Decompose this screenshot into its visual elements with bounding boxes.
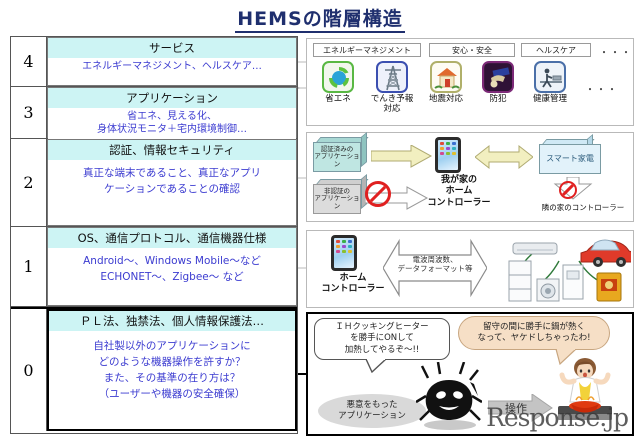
- layer-heading: サービス: [48, 38, 296, 58]
- service-icon-label: 地震対応: [423, 95, 469, 105]
- table-row: 1 OS、通信プロトコル、通信機器仕様 Android～、Windows Mob…: [11, 227, 297, 307]
- unauthenticated-app-cube: 非認証のアプリケーション: [313, 179, 369, 215]
- service-icon-label: 省エネ: [315, 95, 361, 105]
- layer-table: 4 サービス エネルギーマネジメント、ヘルスケア… 3 アプリケーション 省エネ…: [10, 36, 298, 434]
- law-panel: ＩＨクッキングヒーターを勝手にONして加熱してやるぞ～!! 留守の間に勝手に鍋が…: [306, 312, 634, 436]
- no-entry-icon: [559, 181, 577, 199]
- os-panel: ホームコントローラー 電波周波数、データフォーマット等: [306, 230, 634, 308]
- layer-heading: ＰＬ法、独禁法、個人情報保護法…: [49, 311, 295, 331]
- watermark: Response.jp: [486, 403, 628, 432]
- service-icon-item: でんき予報対応: [369, 61, 415, 115]
- victim-speech-bubble: 留守の間に勝手に鍋が熱くなって、ヤケドしちゃったわ!: [458, 316, 610, 350]
- layer-content: アプリケーション 省エネ、見える化、身体状況モニタ＋宅内環境制御…: [47, 87, 297, 138]
- home-controller-label: 我が家のホームコントローラー: [415, 175, 503, 209]
- table-row: 3 アプリケーション 省エネ、見える化、身体状況モニタ＋宅内環境制御…: [11, 87, 297, 139]
- smart-appliance-label: スマート家電: [539, 144, 601, 174]
- power-tower-icon: [376, 61, 408, 93]
- layer-number: 2: [11, 139, 47, 226]
- page-title: HEMSの階層構造: [0, 4, 640, 31]
- unauthenticated-app-label: 非認証のアプリケーション: [313, 184, 361, 214]
- page-title-text: HEMSの階層構造: [235, 8, 404, 33]
- layer-number: 1: [11, 227, 47, 306]
- service-icon-item: 健康管理: [527, 61, 573, 105]
- layer-number: 4: [11, 37, 47, 86]
- diagram-page: HEMSの階層構造 4 サービス エネルギーマネジメント、ヘルスケア… 3: [0, 0, 640, 442]
- layer-content: サービス エネルギーマネジメント、ヘルスケア…: [47, 37, 297, 86]
- layer-content: OS、通信プロトコル、通信機器仕様 Android～、Windows Mobil…: [47, 227, 297, 306]
- allow-arrow-icon: [371, 145, 433, 169]
- service-icon-item: 地震対応: [423, 61, 469, 105]
- security-panel: 認証済みのアプリケーション 非認証のアプリケーション: [306, 132, 634, 222]
- service-tag-safety: 安心・安全: [429, 43, 515, 57]
- service-icon-item: 省エネ: [315, 61, 361, 105]
- authenticated-app-cube: 認証済みのアプリケーション: [313, 137, 369, 173]
- service-tag-row: エネルギーマネジメント 安心・安全 ヘルスケア ・・・: [313, 43, 629, 58]
- service-tag-ellipsis: ・・・: [599, 44, 632, 59]
- layer-body: エネルギーマネジメント、ヘルスケア…: [48, 58, 296, 85]
- layer-content: 認証、情報セキュリティ 真正な端末であること、真正なアプリケーションであることの…: [47, 139, 297, 226]
- table-row: 2 認証、情報セキュリティ 真正な端末であること、真正なアプリケーションであるこ…: [11, 139, 297, 227]
- layer-body: Android～、Windows Mobile～などECHONET～、Zigbe…: [48, 248, 296, 305]
- shaking-house-icon: [430, 61, 462, 93]
- malicious-app-label-ellipse: 悪意をもったアプリケーション: [318, 394, 426, 428]
- smart-appliance-cube: スマート家電: [539, 139, 609, 175]
- service-panel: エネルギーマネジメント 安心・安全 ヘルスケア ・・・ 省エネ: [306, 38, 634, 126]
- security-camera-icon: [482, 61, 514, 93]
- malicious-speech-bubble: ＩＨクッキングヒーターを勝手にONして加熱してやるぞ～!!: [314, 318, 450, 360]
- health-exercise-icon: [534, 61, 566, 93]
- malicious-app-label: 悪意をもったアプリケーション: [338, 400, 406, 421]
- layer-body: 自社製以外のアプリケーションにどのような機器操作を許すか？また、その基準の在り方…: [49, 331, 295, 429]
- service-icon-ellipsis: ・・・: [585, 81, 618, 96]
- no-entry-icon: [365, 181, 391, 207]
- speech-tail-icon: [364, 359, 390, 373]
- service-icon-label: 健康管理: [527, 95, 573, 105]
- layer-number: 3: [11, 87, 47, 138]
- layer-body: 真正な端末であること、真正なアプリケーションであることの確認: [48, 160, 296, 225]
- neighbor-controller-label: 隣の家のコントローラー: [533, 203, 633, 212]
- recycle-globe-icon: [322, 61, 354, 93]
- service-icon-row: 省エネ でんき予報対応: [315, 61, 631, 121]
- protocol-arrow-text: 電波周波数、データフォーマット等: [391, 255, 479, 273]
- authenticated-app-label: 認証済みのアプリケーション: [313, 142, 361, 172]
- service-tag-energy: エネルギーマネジメント: [313, 43, 421, 57]
- service-icon-label: でんき予報対応: [369, 95, 415, 115]
- malware-bug-icon: [416, 362, 482, 430]
- service-icon-item: 防犯: [475, 61, 521, 105]
- bidirectional-arrow-icon: [475, 145, 533, 169]
- layer-heading: OS、通信プロトコル、通信機器仕様: [48, 228, 296, 248]
- service-icon-label: 防犯: [475, 95, 521, 105]
- layer-heading: 認証、情報セキュリティ: [48, 140, 296, 160]
- layer-number: 0: [11, 309, 47, 431]
- layer-content: ＰＬ法、独禁法、個人情報保護法… 自社製以外のアプリケーションにどのような機器操…: [47, 309, 297, 431]
- home-controller-tablet-icon: [331, 235, 357, 271]
- table-row: 0 ＰＬ法、独禁法、個人情報保護法… 自社製以外のアプリケーションにどのような機…: [11, 307, 297, 431]
- layer-body: 省エネ、見える化、身体状況モニタ＋宅内環境制御…: [48, 108, 296, 139]
- table-row: 4 サービス エネルギーマネジメント、ヘルスケア…: [11, 37, 297, 87]
- service-tag-healthcare: ヘルスケア: [521, 43, 591, 57]
- appliance-cluster-icon: [503, 235, 631, 305]
- layer-heading: アプリケーション: [48, 88, 296, 108]
- home-controller-tablet-icon: [435, 137, 461, 173]
